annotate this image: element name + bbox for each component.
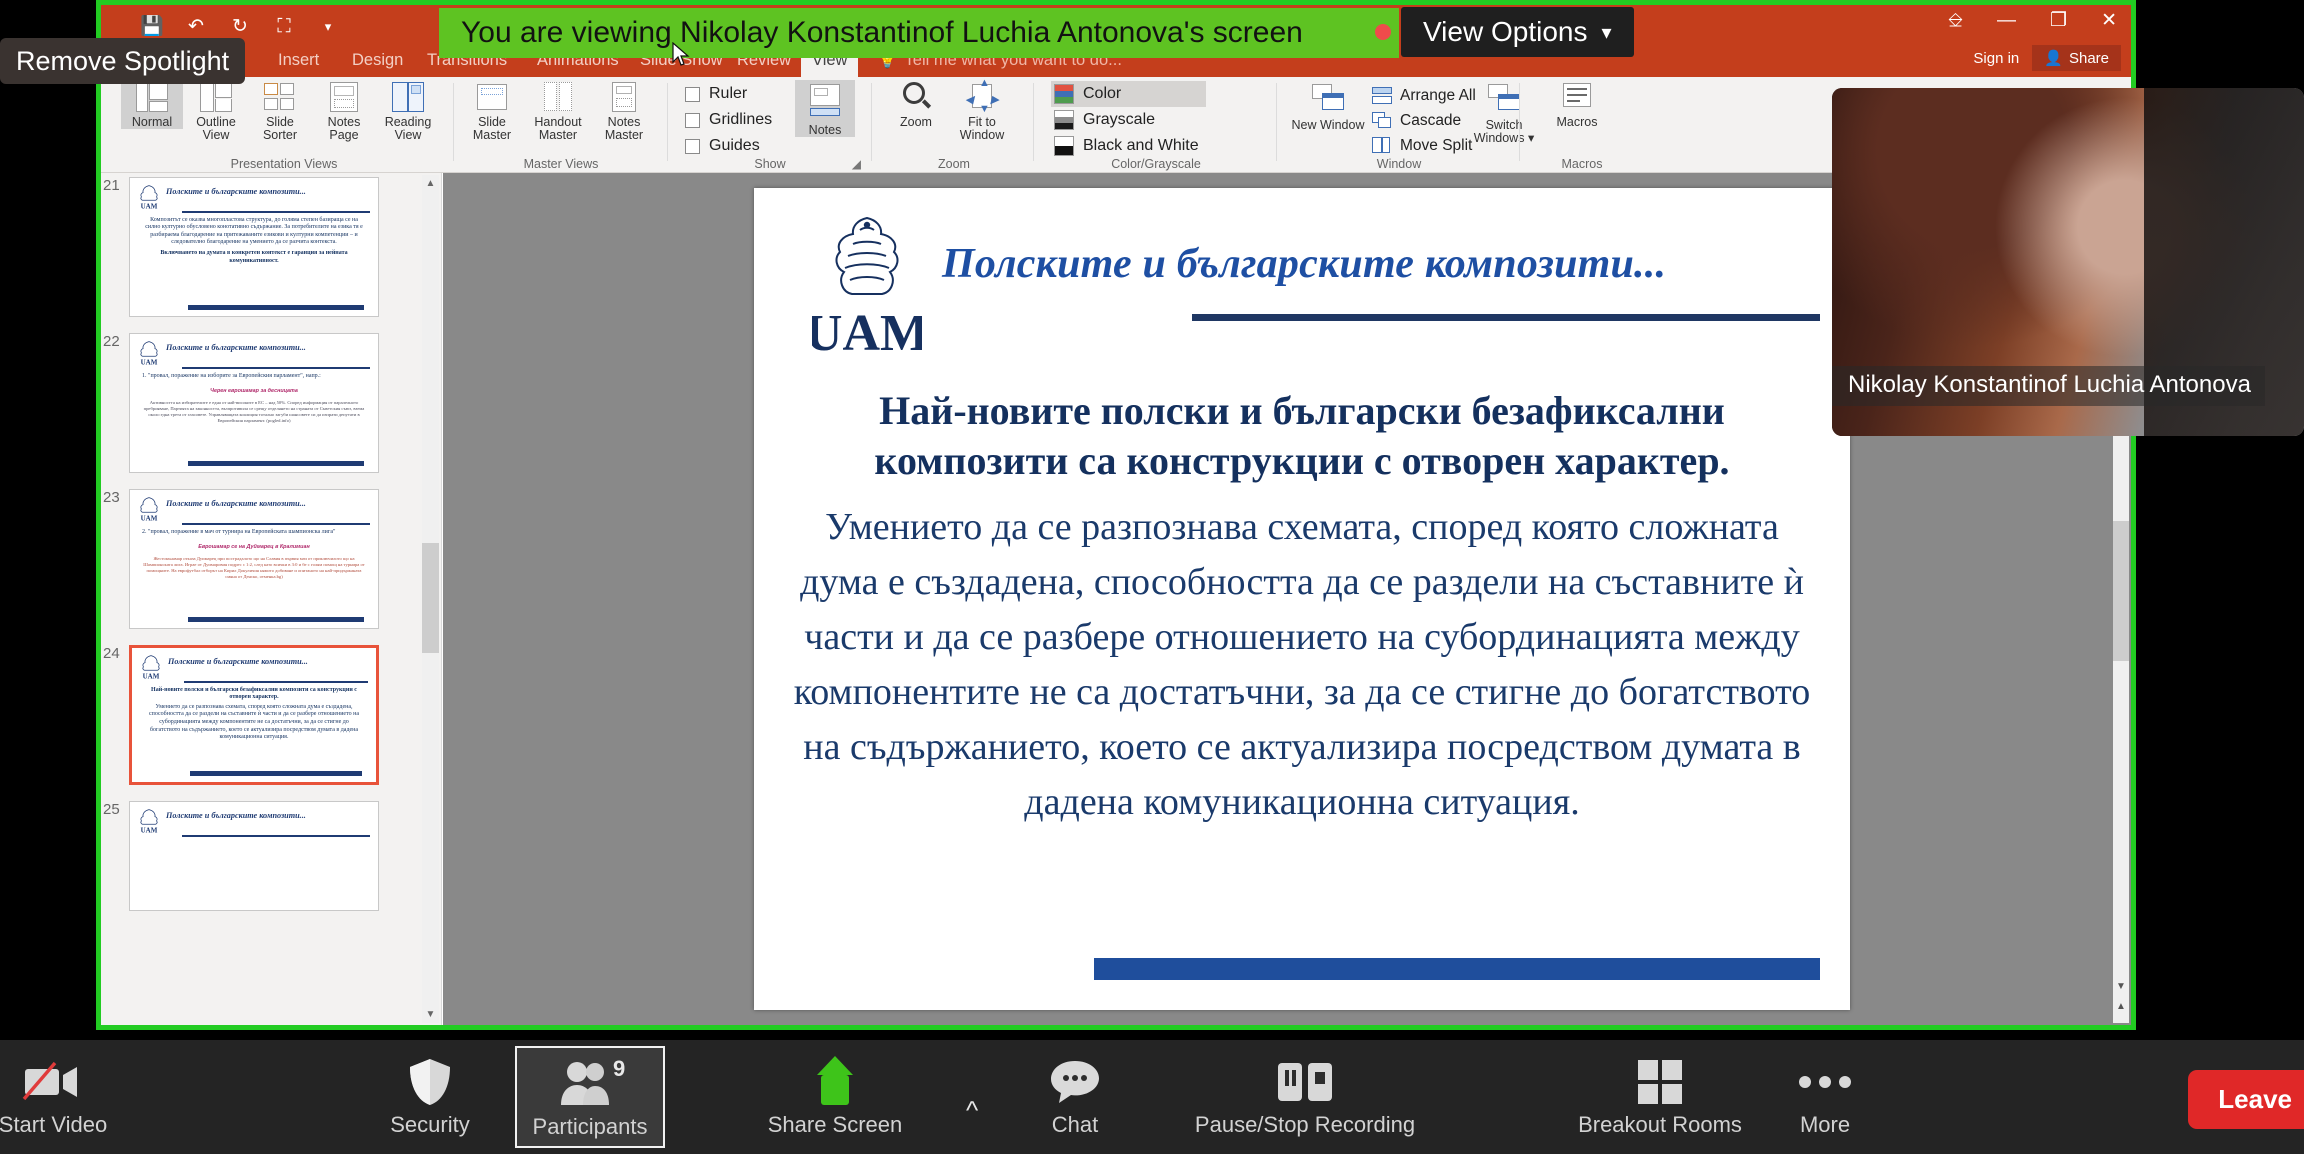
macros-button[interactable]: Macros <box>1541 80 1613 129</box>
view-notes-page-button[interactable]: Notes Page <box>313 80 375 142</box>
thumbnail-title: Полските и българските композити... <box>166 187 306 196</box>
quick-access-toolbar: 💾 ↶ ↻ ⛶ ▾ <box>139 13 341 39</box>
guides-checkbox-icon <box>685 139 700 154</box>
group-label-window: Window <box>1284 157 1514 171</box>
view-options-button[interactable]: View Options ▾ <box>1401 7 1634 57</box>
uam-logo-icon: UAM <box>140 654 162 680</box>
breakout-rooms-button[interactable]: Breakout Rooms <box>1545 1046 1775 1148</box>
guides-label: Guides <box>709 137 760 155</box>
group-label-show: Show <box>675 157 865 171</box>
notes-master-label: Notes Master <box>593 116 655 142</box>
slide-thumbnail[interactable]: 22 UAM Полските и българските композити.… <box>129 333 391 473</box>
thumbnail-number: 23 <box>103 489 120 506</box>
cascade-icon <box>1372 112 1392 130</box>
color-mode-color[interactable]: Color <box>1051 81 1206 107</box>
thumbnail-title: Полските и българските композити... <box>166 811 306 820</box>
participant-video-tile[interactable]: Nikolay Konstantinof Luchia Antonova <box>1832 88 2304 436</box>
uam-logo-icon: UAM <box>138 496 160 522</box>
slide-thumbnail[interactable]: 25 UAM Полските и българските композити.… <box>129 801 391 911</box>
security-label: Security <box>390 1112 469 1138</box>
checkbox-guides[interactable]: Guides <box>685 133 772 159</box>
mouse-cursor-icon <box>672 42 690 68</box>
share-label: Share <box>2069 50 2109 67</box>
share-screen-label: Share Screen <box>768 1112 903 1138</box>
current-slide[interactable]: UAM Полските и българските композити... … <box>754 188 1850 1010</box>
view-slide-sorter-button[interactable]: Slide Sorter <box>249 80 311 142</box>
gridlines-label: Gridlines <box>709 111 772 129</box>
slide-thumbnail[interactable]: 23 UAM Полските и българските композити.… <box>129 489 391 629</box>
thumbnail-paragraph: Еврошамар се на Дуймарец в Кралимиан <box>138 544 370 550</box>
notes-master-button[interactable]: Notes Master <box>593 80 655 142</box>
close-icon[interactable]: ✕ <box>2101 11 2117 30</box>
slide-header: UAM Полските и българските композити... <box>784 210 1820 360</box>
thumbnail-paragraph: Включването на думата в конкретен контек… <box>138 250 370 265</box>
svg-text:UAM: UAM <box>143 672 160 680</box>
group-label-macros: Macros <box>1527 157 1637 171</box>
security-button[interactable]: Security <box>355 1046 505 1148</box>
share-screen-options-caret-icon[interactable]: ^ <box>966 1095 978 1126</box>
move-split-button[interactable]: Move Split <box>1372 133 1476 158</box>
move-split-label: Move Split <box>1400 137 1472 155</box>
color-mode-grayscale-label: Grayscale <box>1083 111 1155 129</box>
participant-name-label: Nikolay Konstantinof Luchia Antonova <box>1832 366 2265 406</box>
thumbnail-number: 25 <box>103 801 120 818</box>
fit-to-window-icon: ◀ ▶ ▲ ▼ <box>964 80 1000 114</box>
share-screen-icon <box>808 1054 862 1110</box>
group-label-zoom: Zoom <box>879 157 1029 171</box>
ruler-label: Ruler <box>709 85 747 103</box>
uam-logo-icon: UAM <box>138 184 160 210</box>
notes-pane-button[interactable]: Notes <box>795 80 855 137</box>
thumbnail-paragraph: 2. "провал, поражение в мач от турнира н… <box>138 529 370 537</box>
ribbon-group-show: Ruler Gridlines Guides <box>675 77 865 173</box>
thumbnail-number: 22 <box>103 333 120 350</box>
black-white-swatch-icon <box>1054 136 1074 156</box>
chat-label: Chat <box>1052 1112 1098 1138</box>
account-row: Sign in 👤Share <box>1973 45 2121 71</box>
macros-label: Macros <box>1541 116 1613 129</box>
view-options-label: View Options <box>1423 16 1587 48</box>
color-swatch-icon <box>1054 84 1074 104</box>
macros-icon <box>1559 80 1595 114</box>
notes-master-icon <box>606 80 642 114</box>
save-icon[interactable]: 💾 <box>139 13 165 39</box>
switch-windows-icon <box>1486 83 1522 117</box>
new-window-label: New Window <box>1290 119 1366 132</box>
restore-icon[interactable]: ❐ <box>2050 11 2067 30</box>
remove-spotlight-tooltip: Remove Spotlight <box>0 38 245 84</box>
zoom-button[interactable]: Zoom <box>885 80 947 129</box>
arrange-all-button[interactable]: Arrange All <box>1372 83 1476 108</box>
shield-icon <box>407 1054 453 1110</box>
thumbnail-paragraph: Най-новите полски и български безафиксал… <box>140 687 368 702</box>
move-split-icon <box>1372 137 1392 155</box>
ribbon-group-master-views: Slide Master Handout Master Notes M <box>461 77 661 173</box>
slide-thumbnail-pane[interactable]: 21 UAM Полските и българските композити.… <box>101 173 442 1025</box>
redo-icon[interactable]: ↻ <box>227 13 253 39</box>
handout-master-button[interactable]: Handout Master <box>527 80 589 142</box>
svg-text:UAM: UAM <box>141 202 158 210</box>
start-video-label: Start Video <box>0 1112 107 1138</box>
slide-thumbnail-selected[interactable]: 24 UAM Полските и българските композити.… <box>129 645 391 785</box>
more-label: More <box>1800 1112 1850 1138</box>
fit-to-window-label: Fit to Window <box>951 116 1013 142</box>
grayscale-swatch-icon <box>1054 110 1074 130</box>
handout-master-icon <box>540 80 576 114</box>
color-mode-bw-label: Black and White <box>1083 137 1199 155</box>
thumbnail-title: Полските и българските композити... <box>166 343 306 352</box>
share-person-icon: 👤 <box>2044 49 2063 67</box>
undo-icon[interactable]: ↶ <box>183 13 209 39</box>
thumbnail-title: Полските и българските композити... <box>168 657 308 666</box>
uam-logo-icon: UAM <box>138 808 160 834</box>
group-label-master-views: Master Views <box>461 157 661 171</box>
slide-thumbnail[interactable]: 21 UAM Полските и българските композити.… <box>129 177 391 317</box>
group-label-presentation-views: Presentation Views <box>119 157 449 171</box>
tab-design[interactable]: Design <box>341 45 414 77</box>
uam-eagle-logo-icon: UAM <box>812 210 922 360</box>
prev-slide-arrow-icon[interactable]: ▲ <box>2113 1001 2129 1017</box>
chat-icon <box>1048 1054 1102 1110</box>
ribbon-group-color-grayscale: Color Grayscale Black and White Color/Gr… <box>1041 77 1271 173</box>
switch-windows-text: Switch Windows <box>1474 118 1525 145</box>
view-reading-button[interactable]: Reading View <box>377 80 439 142</box>
checkbox-ruler[interactable]: Ruler <box>685 81 772 107</box>
thumbnail-paragraph: Черен еврошамар за десницата <box>138 388 370 394</box>
color-mode-grayscale[interactable]: Grayscale <box>1051 107 1206 133</box>
ribbon: Normal Outline View <box>101 77 2131 173</box>
start-video-button[interactable]: Start Video <box>0 1046 148 1148</box>
zoom-label: Zoom <box>885 116 947 129</box>
powerpoint-window: 💾 ↶ ↻ ⛶ ▾ ⎒ — ❐ ✕ File Home Insert Desig… <box>101 5 2131 1025</box>
camera-off-icon <box>21 1054 85 1110</box>
viewing-screen-banner: You are viewing Nikolay Konstantinof Luc… <box>439 8 1399 58</box>
slide-sorter-icon <box>262 80 298 114</box>
thumbnail-paragraph: Композитът се оказва многопластова струк… <box>138 217 370 247</box>
checkbox-gridlines[interactable]: Gridlines <box>685 107 772 133</box>
slide-title: Полските и българските композити... <box>942 240 1820 288</box>
view-notes-page-label: Notes Page <box>313 116 375 142</box>
pause-stop-icon <box>1270 1054 1340 1110</box>
cascade-button[interactable]: Cascade <box>1372 108 1476 133</box>
slide-title-rule <box>1192 314 1820 321</box>
uam-logo-text: UAM <box>812 305 922 360</box>
more-button[interactable]: More <box>1750 1046 1900 1148</box>
ribbon-group-window: New Window Arrange All <box>1284 77 1514 173</box>
leave-label: Leave <box>2218 1084 2292 1114</box>
thumbnail-paragraph: 1. "провал, поражение на изборите за Евр… <box>138 373 370 381</box>
ellipsis-icon <box>1795 1054 1855 1110</box>
slide-master-label: Slide Master <box>461 116 523 142</box>
participants-label: Participants <box>533 1114 648 1140</box>
thumbnail-number: 21 <box>103 177 120 194</box>
notes-pane-icon <box>807 84 843 118</box>
pause-stop-recording-button[interactable]: Pause/Stop Recording <box>1160 1046 1450 1148</box>
remove-spotlight-label: Remove Spotlight <box>16 46 229 77</box>
share-screen-button[interactable]: Share Screen <box>760 1046 910 1148</box>
view-normal-label: Normal <box>121 116 183 129</box>
ribbon-display-options-icon[interactable]: ⎒ <box>1948 11 1963 30</box>
slide-scrollbar-thumb[interactable] <box>2113 521 2129 661</box>
viewing-banner-text: You are viewing Nikolay Konstantinof Luc… <box>461 16 1303 50</box>
tab-insert[interactable]: Insert <box>267 45 330 77</box>
view-normal-button[interactable]: Normal <box>121 80 183 129</box>
color-mode-black-white[interactable]: Black and White <box>1051 133 1206 159</box>
ribbon-group-presentation-views: Normal Outline View <box>119 77 449 173</box>
next-slide-arrow-icon[interactable]: ▼ <box>2113 981 2129 997</box>
uam-logo-icon: UAM <box>138 340 160 366</box>
view-outline-button[interactable]: Outline View <box>185 80 247 142</box>
ribbon-group-zoom: Zoom ◀ ▶ ▲ ▼ Fit to Window Zoom <box>879 77 1029 173</box>
thumbnail-title: Полските и българските композити... <box>166 499 306 508</box>
view-reading-label: Reading View <box>377 116 439 142</box>
svg-text:UAM: UAM <box>141 358 158 366</box>
chevron-down-icon: ▾ <box>1601 20 1611 45</box>
pause-stop-recording-label: Pause/Stop Recording <box>1195 1112 1415 1138</box>
minimize-icon[interactable]: — <box>1997 11 2016 30</box>
svg-text:UAM: UAM <box>141 514 158 522</box>
handout-master-label: Handout Master <box>527 116 589 142</box>
chat-button[interactable]: Chat <box>1000 1046 1150 1148</box>
window-controls: ⎒ — ❐ ✕ <box>1948 11 2117 30</box>
arrange-all-icon <box>1372 87 1392 105</box>
slide-heading: Най-новите полски и български безафиксал… <box>784 386 1820 486</box>
participants-count-badge: 9 <box>613 1056 625 1082</box>
reading-view-icon <box>390 80 426 114</box>
outline-view-icon <box>198 80 234 114</box>
breakout-rooms-icon <box>1636 1054 1684 1110</box>
view-outline-label: Outline View <box>185 116 247 142</box>
thumbnail-scroll-down-arrow[interactable]: ▼ <box>422 1006 439 1023</box>
thumbnail-paragraph: Жестокънамар отказа Дуимарец при пострад… <box>138 556 370 579</box>
breakout-rooms-label: Breakout Rooms <box>1578 1112 1742 1138</box>
ruler-checkbox-icon <box>685 87 700 102</box>
leave-button[interactable]: Leave <box>2188 1070 2304 1129</box>
recording-indicator-icon <box>1375 24 1391 40</box>
gridlines-checkbox-icon <box>685 113 700 128</box>
slide-master-icon <box>474 80 510 114</box>
fit-to-window-button[interactable]: ◀ ▶ ▲ ▼ Fit to Window <box>951 80 1013 142</box>
slide-body-text: Умението да се разпознава схемата, споре… <box>784 500 1820 830</box>
thumbnail-paragraph: Умението да се разпознава схемата, споре… <box>140 704 368 742</box>
cascade-label: Cascade <box>1400 112 1461 130</box>
color-mode-color-label: Color <box>1083 85 1121 103</box>
new-window-icon <box>1310 83 1346 117</box>
slide-footer-bar <box>1094 958 1820 980</box>
ribbon-group-macros: Macros Macros <box>1527 77 1637 173</box>
show-dialog-launcher-icon[interactable]: ◢ <box>852 157 861 171</box>
share-button[interactable]: 👤Share <box>2032 45 2121 71</box>
participants-button[interactable]: 9 Participants <box>515 1046 665 1148</box>
view-slide-sorter-label: Slide Sorter <box>249 116 311 142</box>
new-window-button[interactable]: New Window <box>1290 83 1366 132</box>
notes-page-icon <box>326 80 362 114</box>
screen-root: 💾 ↶ ↻ ⛶ ▾ ⎒ — ❐ ✕ File Home Insert Desig… <box>0 0 2304 1154</box>
group-label-color-grayscale: Color/Grayscale <box>1041 157 1271 171</box>
thumbnail-number: 24 <box>103 645 120 662</box>
svg-text:UAM: UAM <box>141 826 158 834</box>
sign-in-link[interactable]: Sign in <box>1973 50 2019 67</box>
zoom-toolbar: Start Video Security 9 Partici <box>0 1040 2304 1154</box>
normal-view-icon <box>134 80 170 114</box>
start-presentation-icon[interactable]: ⛶ <box>271 13 297 39</box>
thumbnail-scroll-up-arrow[interactable]: ▲ <box>422 175 439 192</box>
thumbnail-paragraph: Активността на избирателите е една от на… <box>138 400 370 423</box>
customize-qat-icon[interactable]: ▾ <box>315 13 341 39</box>
slide-master-button[interactable]: Slide Master <box>461 80 523 142</box>
notes-pane-label: Notes <box>795 124 855 137</box>
magnifier-icon <box>898 80 934 114</box>
thumbnail-scrollbar-thumb[interactable] <box>422 543 439 653</box>
